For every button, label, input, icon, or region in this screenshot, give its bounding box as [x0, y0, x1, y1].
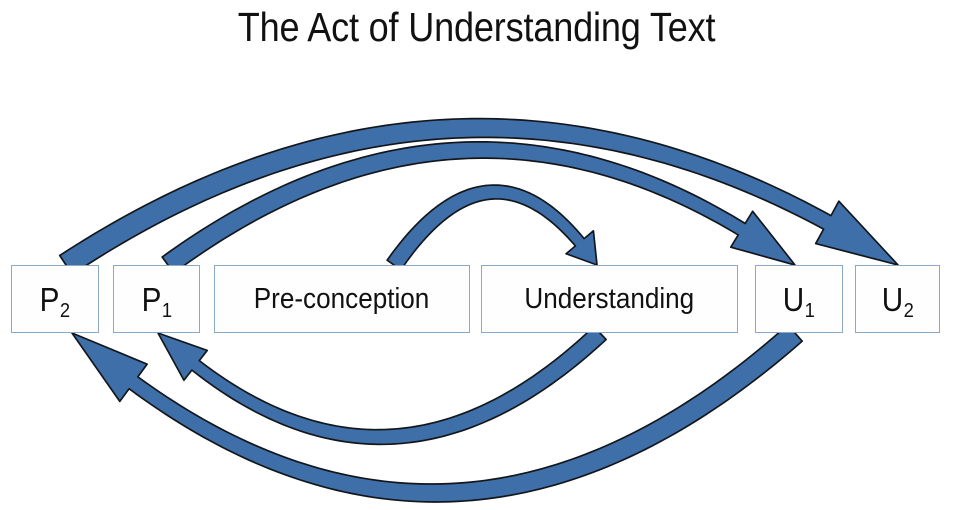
arc-p2-to-u2	[60, 119, 898, 275]
diagram-canvas: The Act of Understanding Text P2P1Pre-co…	[0, 0, 953, 510]
node-label-u2: U2	[882, 283, 914, 316]
node-box-understanding[interactable]: Understanding	[481, 265, 738, 333]
node-box-u2[interactable]: U2	[855, 265, 940, 333]
node-label-u1: U1	[783, 283, 815, 316]
page-title: The Act of Understanding Text	[57, 4, 896, 51]
node-box-p2[interactable]: P2	[11, 265, 99, 333]
node-label-p2: P2	[40, 283, 70, 316]
arc-understanding-to-p1	[158, 327, 606, 445]
node-label-understanding: Understanding	[525, 285, 695, 314]
node-box-u1[interactable]: U1	[755, 265, 843, 333]
arc-u1-to-p2	[72, 325, 802, 502]
node-label-preconception: Pre-conception	[254, 285, 430, 314]
node-box-p1[interactable]: P1	[113, 265, 200, 333]
arc-p1-to-u1	[162, 142, 795, 273]
node-label-p1: P1	[141, 283, 171, 316]
node-box-preconception[interactable]: Pre-conception	[214, 265, 470, 333]
arc-preconception-to-understanding	[387, 185, 597, 270]
arrow-layer	[0, 0, 953, 510]
